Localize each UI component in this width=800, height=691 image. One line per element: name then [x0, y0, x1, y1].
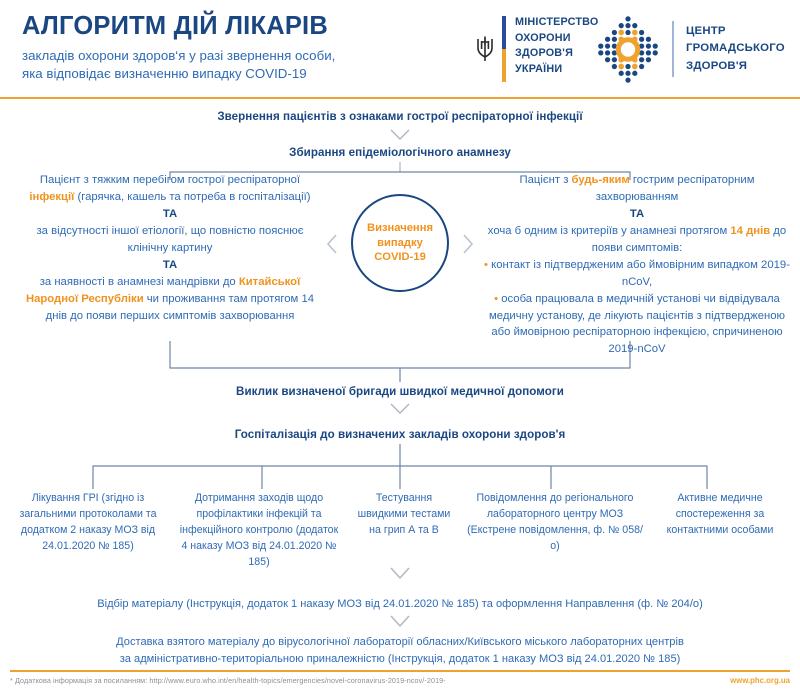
right-conjunction-1: ТА — [482, 206, 792, 223]
flow-node-delivery: Доставка взятого матеріалу до вірусологі… — [0, 634, 800, 667]
case-definition-circle: Визначення випадку COVID-19 — [351, 194, 449, 292]
left-conjunction-2: ТА — [20, 257, 320, 274]
ministry-of-health-logo: МІНІСТЕРСТВО ОХОРОНИ ЗДОРОВ'Я УКРАЇНИ — [474, 14, 599, 84]
right-p1-highlight: будь-яким — [572, 174, 630, 186]
delivery-line-1: Доставка взятого матеріалу до вірусологі… — [116, 636, 684, 648]
flow-node-sampling: Відбір матеріалу (Інструкція, додаток 1 … — [0, 596, 800, 613]
ministry-logo-text: МІНІСТЕРСТВО ОХОРОНИ ЗДОРОВ'Я УКРАЇНИ — [515, 14, 599, 84]
case-definition-label: Визначення випадку COVID-19 — [367, 221, 433, 265]
chevron-left-icon — [325, 232, 339, 261]
ukraine-trident-icon — [474, 14, 496, 84]
flow-node-hospitalization: Госпіталізація до визначених закладів ох… — [0, 428, 800, 441]
right-bullet-2-row: • особа працювала в медичній установі чи… — [482, 291, 792, 359]
public-health-center-logo: ЦЕНТР ГРОМАДСЬКОГО ЗДОРОВ'Я — [592, 14, 785, 84]
moz-line-1: МІНІСТЕРСТВО — [515, 15, 599, 31]
footnote-text: * Додаткова інформація за посиланням: ht… — [10, 676, 446, 685]
logo-divider — [672, 21, 674, 77]
action-column-notification: Повідомлення до регіонального лабораторн… — [460, 490, 650, 570]
flow-node-brigade-call: Виклик визначеної бригади швидкої медичн… — [0, 385, 800, 398]
action-columns: Лікування ГРІ (згідно із загальними прот… — [0, 490, 800, 570]
left-p2: за відсутності іншої етіології, що повні… — [36, 225, 303, 254]
phc-line-3: ЗДОРОВ'Я — [686, 58, 785, 75]
subtitle-line-2: яка відповідає визначенню випадку COVID-… — [22, 66, 307, 81]
case-definition-decision: Пацієнт з тяжким перебігом гострої респі… — [0, 168, 800, 368]
right-p1-a: Пацієнт з — [520, 174, 572, 186]
phc-dot-mark-icon — [592, 14, 664, 84]
circle-line-1: Визначення — [367, 221, 433, 236]
footer-divider-rule — [10, 670, 790, 672]
moz-line-4: УКРАЇНИ — [515, 62, 599, 78]
chevron-right-icon — [461, 232, 475, 261]
moz-line-3: ЗДОРОВ'Я — [515, 46, 599, 62]
phc-line-1: ЦЕНТР — [686, 23, 785, 40]
criteria-right-column: Пацієнт з будь-яким гострим респіраторни… — [482, 172, 792, 358]
criteria-left-column: Пацієнт з тяжким перебігом гострої респі… — [20, 172, 320, 324]
title-block: АЛГОРИТМ ДІЙ ЛІКАРІВ закладів охорони зд… — [22, 12, 452, 84]
page-title: АЛГОРИТМ ДІЙ ЛІКАРІВ — [22, 12, 452, 40]
right-bullet-2: особа працювала в медичній установі чи в… — [489, 293, 785, 356]
left-p1-a: Пацієнт з тяжким перебігом гострої респі… — [40, 174, 300, 186]
case-definition-circle-group: Визначення випадку COVID-19 — [325, 194, 475, 314]
circle-line-2: випадку — [367, 236, 433, 251]
left-conjunction-1: ТА — [20, 206, 320, 223]
delivery-line-2: за адміністративно-територіальною принал… — [120, 653, 681, 665]
phc-logo-text: ЦЕНТР ГРОМАДСЬКОГО ЗДОРОВ'Я — [686, 23, 785, 74]
header-divider-rule — [0, 97, 800, 99]
circle-line-3: COVID-19 — [367, 250, 433, 265]
flow-node-anamnesis: Збирання епідеміологічного анамнезу — [0, 146, 800, 159]
action-column-infection-control: Дотримання заходів щодо профілактики інф… — [170, 490, 348, 570]
moz-line-2: ОХОРОНИ — [515, 31, 599, 47]
right-p2-a: хоча б одним із критеріїв у анамнезі про… — [488, 225, 731, 237]
ukraine-flag-bar — [502, 16, 506, 82]
phc-line-2: ГРОМАДСЬКОГО — [686, 40, 785, 57]
right-bullet-1: контакт із підтвердженим або ймовірним в… — [491, 259, 790, 288]
right-p2-highlight: 14 днів — [730, 225, 770, 237]
infographic-page: АЛГОРИТМ ДІЙ ЛІКАРІВ закладів охорони зд… — [0, 0, 800, 691]
flow-node-appeal: Звернення пацієнтів з ознаками гострої р… — [0, 110, 800, 123]
right-bullet-1-row: • контакт із підтвердженим або ймовірним… — [482, 257, 792, 291]
action-column-active-monitoring: Активне медичне спостереження за контакт… — [650, 490, 790, 570]
action-column-treatment: Лікування ГРІ (згідно із загальними прот… — [6, 490, 170, 570]
left-p3-a: за наявності в анамнезі мандрівки до — [40, 276, 239, 288]
action-column-rapid-testing: Тестування швидкими тестами на грип А та… — [348, 490, 460, 570]
subtitle-line-1: закладів охорони здоров‘я у разі звернен… — [22, 48, 335, 63]
left-p1-b: (гарячка, кашель та потреба в госпіталіз… — [74, 191, 310, 203]
header: АЛГОРИТМ ДІЙ ЛІКАРІВ закладів охорони зд… — [0, 0, 800, 98]
website-link[interactable]: www.phc.org.ua — [730, 676, 790, 685]
left-p1-highlight: інфекції — [29, 191, 74, 203]
page-subtitle: закладів охорони здоров‘я у разі звернен… — [22, 47, 452, 84]
